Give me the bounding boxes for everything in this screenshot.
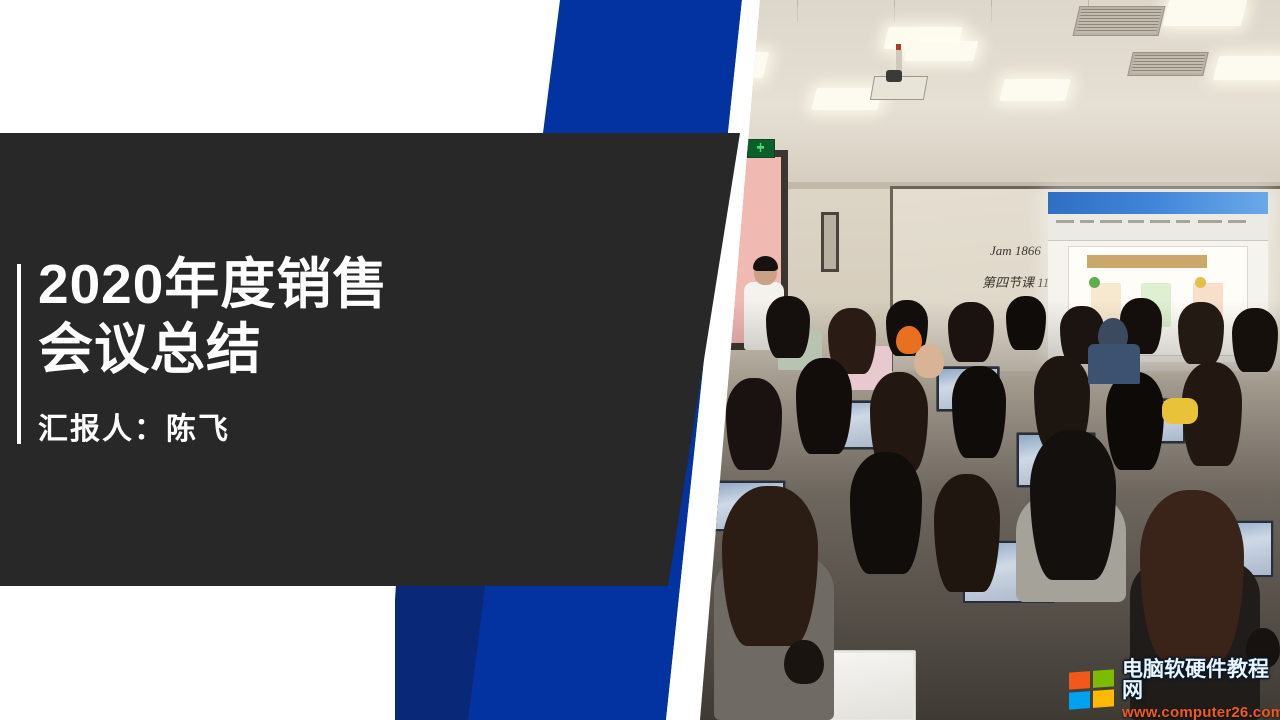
projected-app-titlebar	[1048, 192, 1268, 214]
watermark-text: 电脑软硬件教程网 www.computer26.com	[1122, 659, 1280, 720]
ceiling-light	[999, 79, 1070, 101]
student-hair	[1030, 430, 1116, 580]
photo-content: Jam 1866 第四节课 11/22	[700, 0, 1280, 720]
student-head	[896, 326, 922, 354]
student-hair	[766, 296, 810, 358]
student-hair	[934, 474, 1000, 592]
slide-subtitle-presenter: 汇报人：陈飞	[38, 404, 508, 448]
slide-title-line-2: 会议总结	[38, 317, 508, 382]
slide-title-line-1: 2020年度销售	[38, 252, 508, 317]
student-hair	[1006, 296, 1046, 350]
projected-app-ribbon	[1048, 214, 1268, 241]
student-hair	[948, 302, 994, 362]
student-hair	[722, 486, 818, 646]
document-header-band	[1087, 255, 1207, 268]
windows-logo-square-top-right	[1093, 669, 1114, 687]
air-vent	[1073, 6, 1166, 36]
student-hair	[952, 366, 1006, 458]
document-icon	[1195, 277, 1206, 288]
student-torso	[1162, 398, 1198, 424]
ceiling-light	[1163, 0, 1247, 26]
windows-logo-square-top-left	[1069, 671, 1090, 689]
whiteboard-note-1: Jam 1866	[990, 243, 1041, 259]
air-vent	[1127, 52, 1209, 76]
student-hair	[1178, 302, 1224, 364]
student-head	[784, 640, 824, 684]
student-hair	[796, 358, 852, 454]
windows-logo-square-bottom-right	[1093, 689, 1114, 707]
document-icon	[1089, 277, 1100, 288]
ceiling-light	[1213, 56, 1280, 80]
title-accent-bar	[17, 264, 21, 444]
windows-logo-icon	[1069, 669, 1114, 709]
ceiling-light	[904, 41, 979, 61]
title-block: 2020年度销售 会议总结 汇报人：陈飞	[38, 252, 508, 448]
windows-logo-square-bottom-left	[1069, 691, 1090, 709]
student-hair	[1140, 490, 1244, 662]
watermark-url: www.computer26.com	[1122, 705, 1280, 720]
student-hair	[850, 452, 922, 574]
projector-lens	[886, 70, 902, 82]
student-torso	[1088, 344, 1140, 384]
ceiling-light	[700, 52, 769, 78]
student-hair	[726, 378, 782, 470]
presentation-slide: Jam 1866 第四节课 11/22	[0, 0, 1280, 720]
watermark-site-name: 电脑软硬件教程网	[1122, 659, 1280, 701]
student-hair	[1232, 308, 1278, 372]
student-hair	[1106, 372, 1164, 470]
site-watermark: 电脑软硬件教程网 www.computer26.com	[1069, 659, 1280, 720]
wall-frame	[821, 212, 839, 272]
